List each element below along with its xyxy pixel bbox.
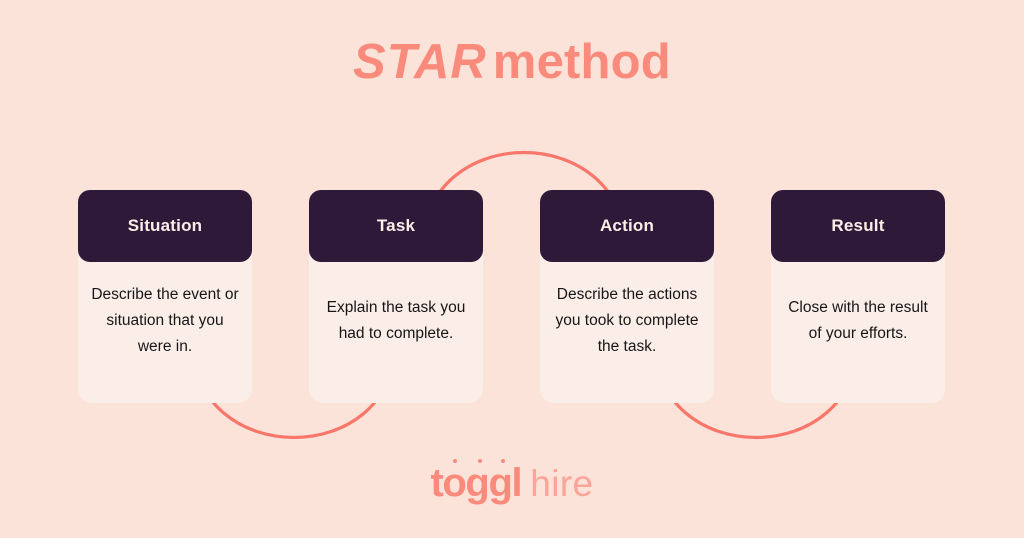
star-steps-row: Situation Describe the event or situatio… bbox=[0, 190, 1024, 404]
step-body-situation: Describe the event or situation that you… bbox=[78, 262, 252, 403]
step-card-action: Action Describe the actions you took to … bbox=[540, 190, 714, 403]
step-card-task: Task Explain the task you had to complet… bbox=[309, 190, 483, 403]
step-card-situation: Situation Describe the event or situatio… bbox=[78, 190, 252, 403]
step-body-task: Explain the task you had to complete. bbox=[309, 262, 483, 403]
step-title-action: Action bbox=[600, 216, 654, 236]
infographic-canvas: STARmethod Situation Describe the event … bbox=[0, 0, 1024, 538]
step-header-result: Result bbox=[771, 190, 945, 262]
step-description-result: Close with the result of your efforts. bbox=[783, 295, 933, 347]
toggl-hire-logo: toggl hire bbox=[0, 463, 1024, 503]
step-title-result: Result bbox=[831, 216, 884, 236]
logo-brand-text: toggl bbox=[430, 461, 521, 505]
step-body-result: Close with the result of your efforts. bbox=[771, 262, 945, 403]
logo-product-text: hire bbox=[530, 465, 593, 502]
logo-brand-wordmark: toggl bbox=[430, 463, 521, 503]
step-card-result: Result Close with the result of your eff… bbox=[771, 190, 945, 403]
step-description-situation: Describe the event or situation that you… bbox=[90, 282, 240, 360]
step-description-task: Explain the task you had to complete. bbox=[321, 295, 471, 347]
step-title-task: Task bbox=[377, 216, 415, 236]
step-title-situation: Situation bbox=[128, 216, 203, 236]
step-header-task: Task bbox=[309, 190, 483, 262]
step-description-action: Describe the actions you took to complet… bbox=[552, 282, 702, 360]
step-body-action: Describe the actions you took to complet… bbox=[540, 262, 714, 403]
step-header-action: Action bbox=[540, 190, 714, 262]
step-header-situation: Situation bbox=[78, 190, 252, 262]
